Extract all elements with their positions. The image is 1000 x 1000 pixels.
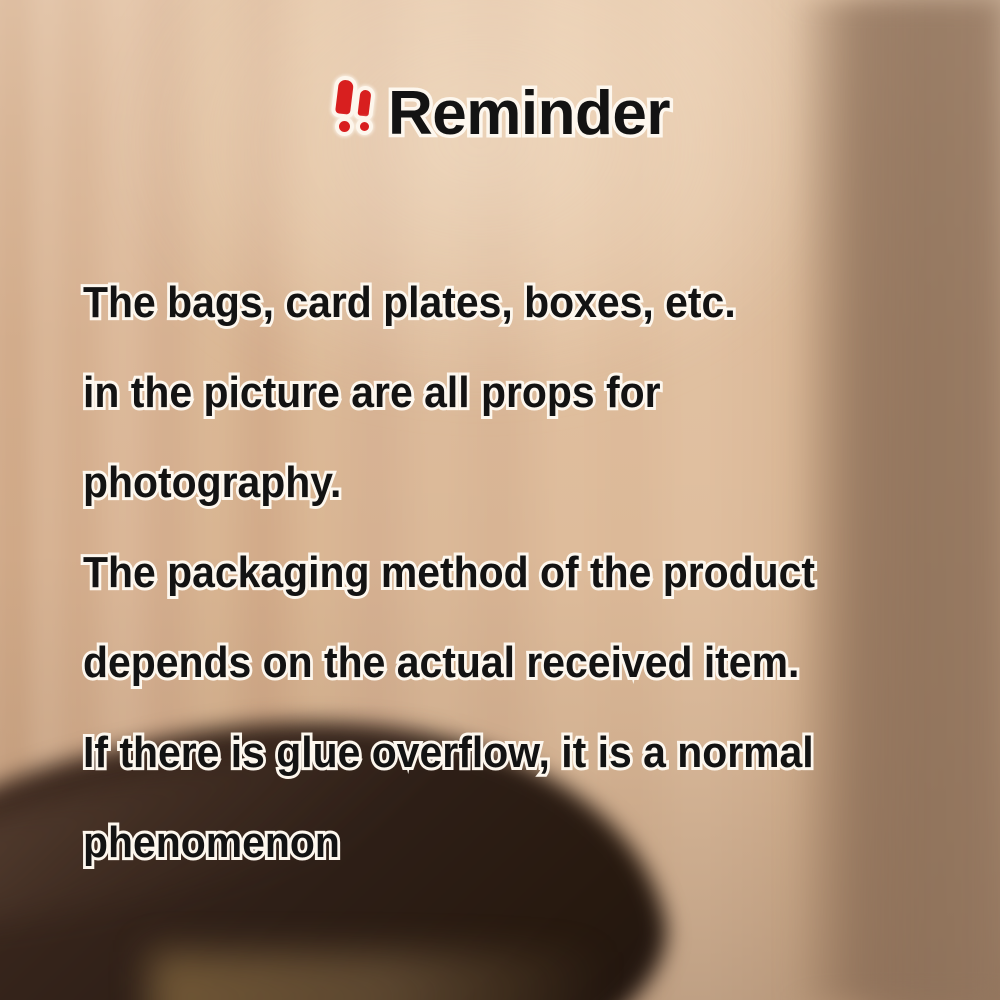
notice-line-6: If there is glue overflow, it is a norma… — [83, 708, 920, 798]
notice-line-2: in the picture are all props for — [83, 348, 920, 438]
exclamation-stem-large — [335, 79, 354, 115]
notice-line-1: The bags, card plates, boxes, etc. — [83, 258, 920, 348]
notice-body: The bags, card plates, boxes, etc. in th… — [83, 258, 983, 888]
notice-line-4: The packaging method of the product — [83, 528, 920, 618]
notice-line-7: phenomenon — [83, 798, 920, 888]
text-overlay: Reminder The bags, card plates, boxes, e… — [0, 0, 1000, 1000]
page-title: Reminder — [0, 76, 1000, 145]
reminder-notice-image: Reminder The bags, card plates, boxes, e… — [0, 0, 1000, 1000]
exclamation-dot-large — [339, 121, 350, 132]
exclamation-dot-small — [360, 122, 369, 131]
notice-line-3: photography. — [83, 438, 920, 528]
page-title-text: Reminder — [388, 83, 670, 145]
double-exclamation-mark-icon — [330, 76, 386, 138]
exclamation-stem-small — [357, 89, 371, 116]
notice-line-5: depends on the actual received item. — [83, 618, 920, 708]
